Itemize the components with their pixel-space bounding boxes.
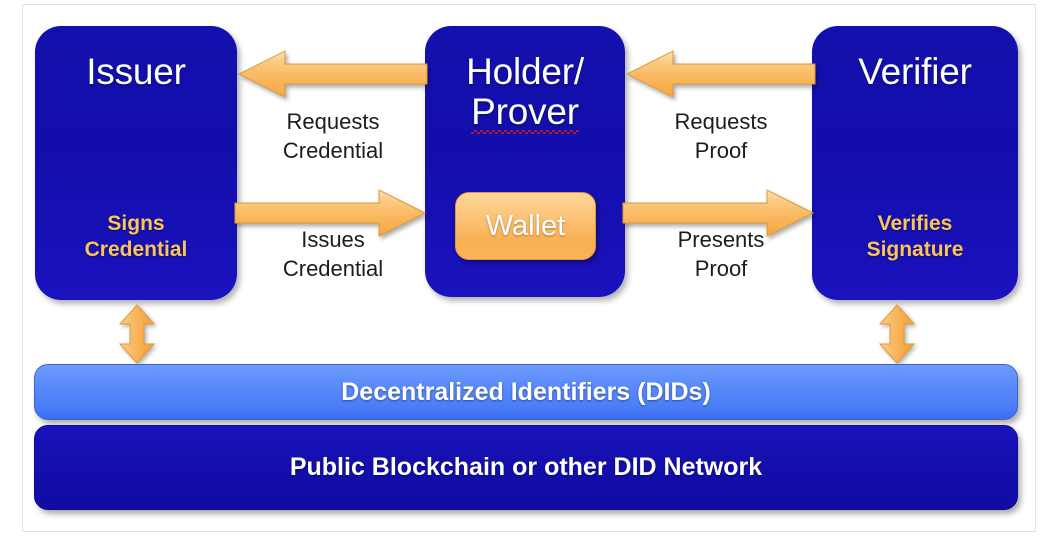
layer-public-blockchain-label: Public Blockchain or other DID Network [290,453,762,482]
verifier-subtitle-line-2: Signature [812,237,1018,263]
caption-presents-proof: Presents Proof [626,226,816,283]
issuer-subtitle-line-1: Signs [35,211,237,237]
holder-prover-title-line-2: Prover [425,92,625,132]
caption-issues-credential-line-2: Credential [238,255,428,284]
issuer-title: Issuer [35,52,237,92]
role-box-holder-prover[interactable]: Holder/ Prover Wallet [425,26,625,297]
arrow-verifier-to-dids [877,304,917,364]
caption-issues-credential: Issues Credential [238,226,428,283]
wallet-label: Wallet [486,210,566,243]
caption-requests-credential-line-1: Requests [238,108,428,137]
wallet-button[interactable]: Wallet [455,192,596,260]
layer-public-blockchain[interactable]: Public Blockchain or other DID Network [34,425,1018,510]
caption-presents-proof-line-1: Presents [626,226,816,255]
holder-prover-title: Holder/ Prover [425,52,625,132]
verifier-subtitle-line-1: Verifies [812,211,1018,237]
issuer-subtitle: Signs Credential [35,211,237,262]
caption-requests-proof-line-2: Proof [626,137,816,166]
verifier-subtitle: Verifies Signature [812,211,1018,262]
role-box-verifier[interactable]: Verifier Verifies Signature [812,26,1018,300]
verifier-title: Verifier [812,52,1018,92]
caption-issues-credential-line-1: Issues [238,226,428,255]
layer-decentralized-identifiers[interactable]: Decentralized Identifiers (DIDs) [34,364,1018,420]
arrow-requests-proof [626,50,816,98]
caption-requests-credential: Requests Credential [238,108,428,165]
caption-requests-proof: Requests Proof [626,108,816,165]
role-box-issuer[interactable]: Issuer Signs Credential [35,26,237,300]
holder-prover-title-line-1: Holder/ [425,52,625,92]
diagram-canvas: Issuer Signs Credential Holder/ Prover W… [0,0,1058,536]
arrow-requests-credential [238,50,428,98]
caption-requests-credential-line-2: Credential [238,137,428,166]
arrow-issuer-to-dids [117,304,157,364]
caption-presents-proof-line-2: Proof [626,255,816,284]
issuer-subtitle-line-2: Credential [35,237,237,263]
layer-decentralized-identifiers-label: Decentralized Identifiers (DIDs) [341,378,711,407]
holder-prover-title-line-2-text: Prover [471,92,579,132]
caption-requests-proof-line-1: Requests [626,108,816,137]
